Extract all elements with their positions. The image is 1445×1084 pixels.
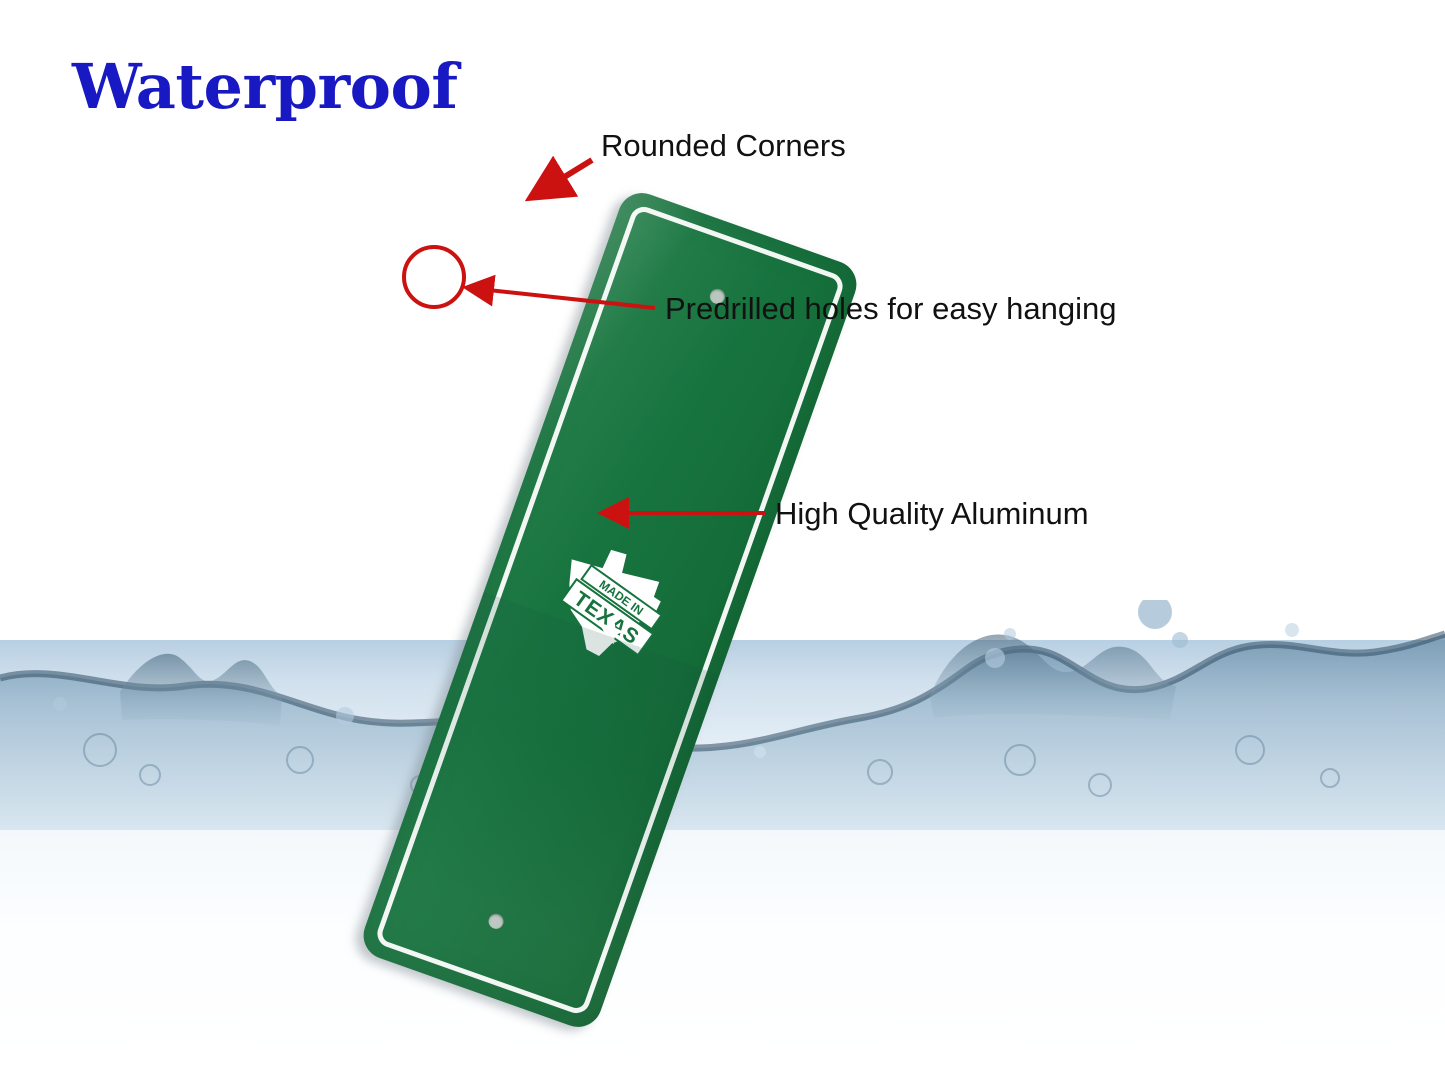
callout-high-quality-aluminum: High Quality Aluminum [775,496,1089,532]
product-feature-image: MADE IN TEXAS [0,0,1445,1084]
callout-predrilled-holes: Predrilled holes for easy hanging [665,291,1117,327]
page-title: Waterproof [72,50,458,123]
callout-rounded-corners: Rounded Corners [601,128,846,164]
